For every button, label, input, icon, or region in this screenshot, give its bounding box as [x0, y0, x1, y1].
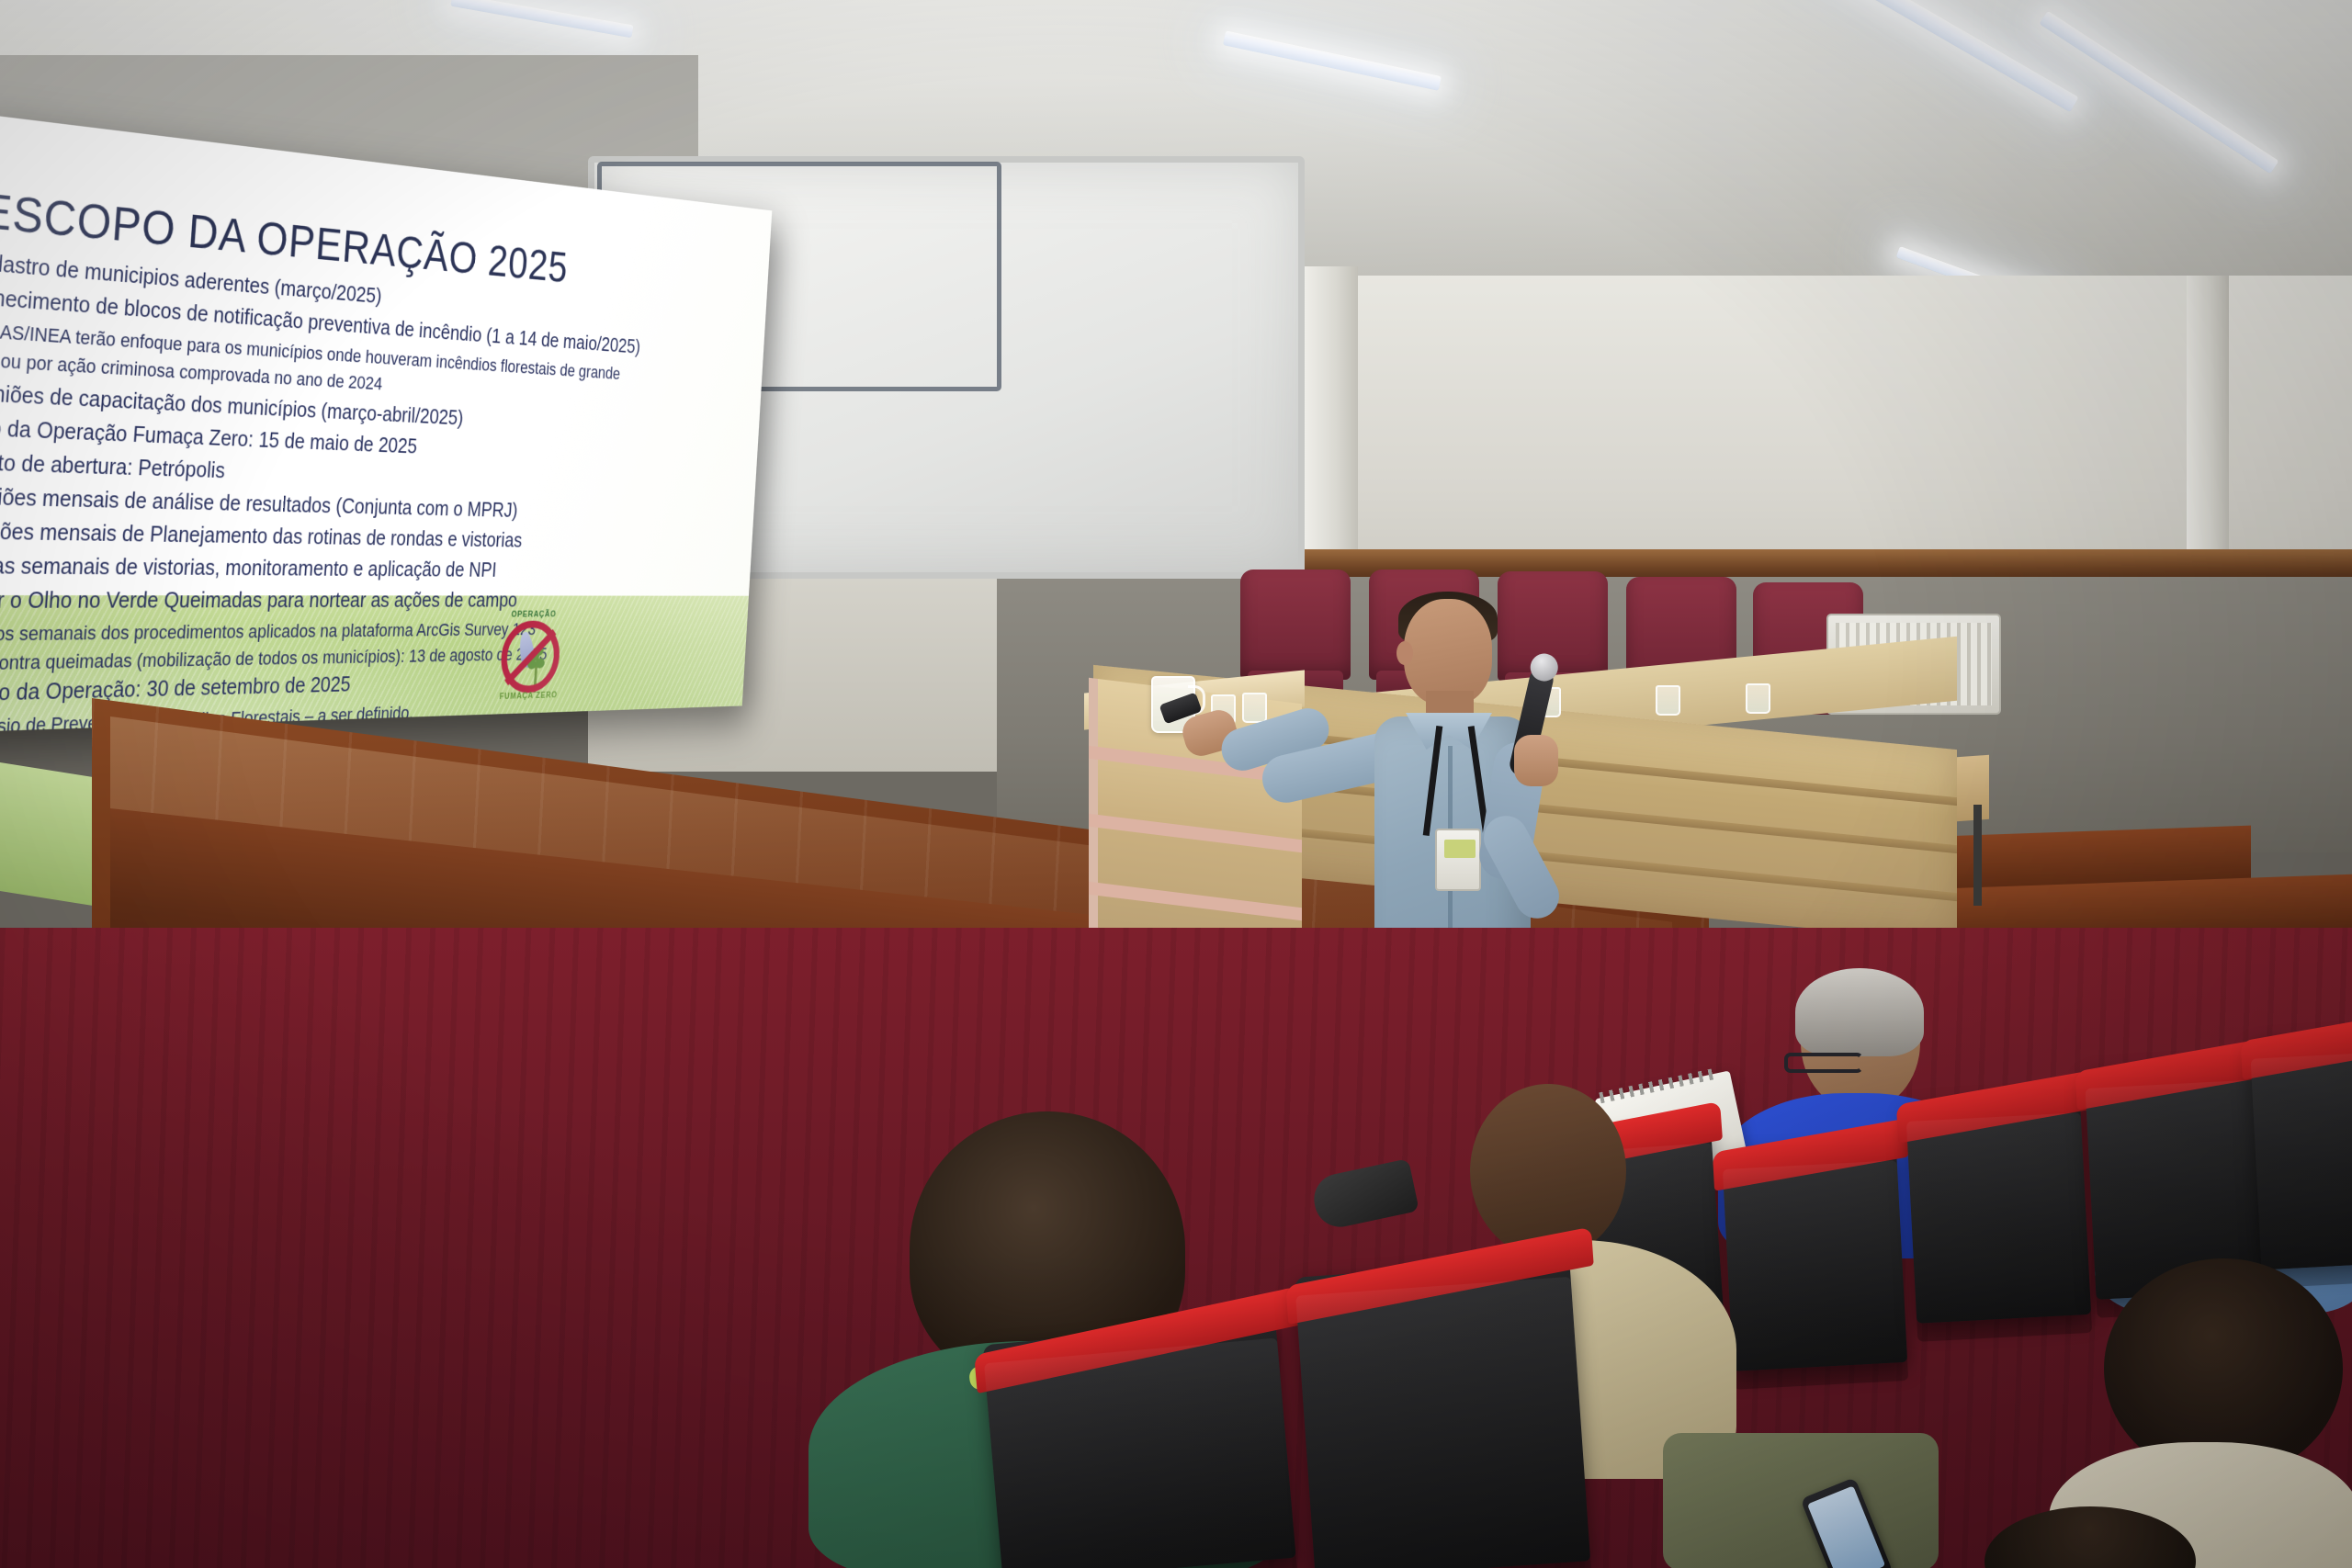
slide-bullet: Rondas semanais de vistorias, monitorame…: [0, 555, 671, 581]
presenter-head: [1404, 599, 1492, 705]
audience-hair: [1795, 968, 1924, 1056]
drinking-glass-5: [1746, 683, 1770, 714]
seat-shade: [1723, 1160, 1908, 1390]
logo-text-bottom: FUMAÇA ZERO: [488, 690, 568, 702]
slide: ESCOPO DA OPERAÇÃO 2025 Cadastro de muni…: [0, 111, 772, 734]
presenter-right-hand: [1514, 735, 1558, 786]
seat-shade: [984, 1337, 1297, 1568]
slide-bullet-list: Cadastro de municipios aderentes (março/…: [0, 251, 686, 734]
wall-pillar-1: [1305, 266, 1358, 570]
auditorium-scene: ESCOPO DA OPERAÇÃO 2025 Cadastro de muni…: [0, 0, 2352, 1568]
presenter-id-badge: [1435, 829, 1481, 891]
logo-text-top: OPERAÇÃO: [493, 610, 573, 620]
audience-seat: [982, 1320, 1295, 1568]
seat-shade: [2251, 1050, 2352, 1288]
drinking-glass-4: [1656, 685, 1680, 716]
drinking-glass-2: [1242, 693, 1267, 723]
audience-seat: [2250, 1032, 2352, 1269]
audience-seat: [1295, 1258, 1590, 1568]
seat-shade: [1295, 1277, 1591, 1568]
projection-screen: ESCOPO DA OPERAÇÃO 2025 Cadastro de muni…: [0, 111, 772, 734]
audience-seat: [1722, 1142, 1907, 1371]
side-table-leg-right: [1973, 805, 1982, 906]
operacao-fumaca-zero-logo: OPERAÇÃO FUMAÇA ZERO: [488, 605, 573, 705]
slide-bullet: Reuniões mensais de Planejamento das rot…: [0, 520, 673, 553]
wall-pillar-2: [2187, 276, 2229, 579]
audience-head: [1470, 1084, 1626, 1258]
glasses-icon: [1784, 1053, 1863, 1073]
presenter-ear: [1396, 641, 1413, 665]
audience-legs: [1663, 1433, 1939, 1568]
